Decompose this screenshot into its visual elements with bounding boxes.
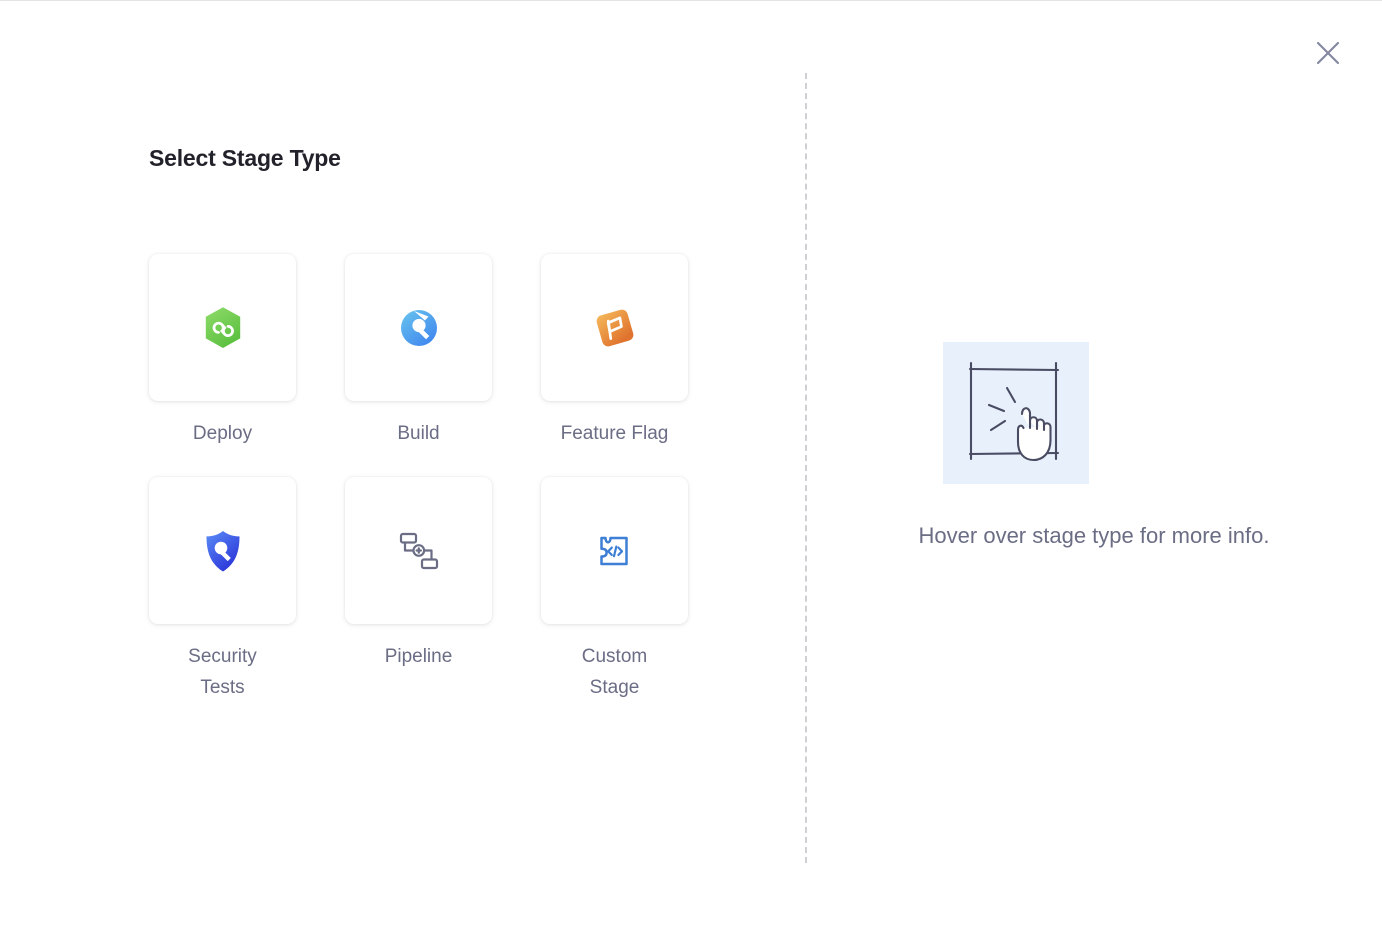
stage-type-label: Pipeline: [385, 641, 453, 672]
stage-type-cell-custom-stage: Custom Stage: [541, 477, 688, 703]
stage-type-cell-feature-flag: Feature Flag: [541, 254, 688, 449]
select-stage-type-modal: Select Stage Type: [0, 0, 1382, 950]
custom-stage-puzzle-code-icon: [592, 528, 638, 574]
build-circle-magnifier-icon: [395, 304, 443, 352]
info-panel: Hover over stage type for more info.: [806, 1, 1382, 950]
stage-type-cell-security-tests: Security Tests: [149, 477, 296, 703]
feature-flag-icon: [591, 304, 639, 352]
hover-hint-text: Hover over stage type for more info.: [830, 517, 1358, 554]
stage-type-custom-stage[interactable]: [541, 477, 688, 624]
deploy-hexagon-infinity-icon: [199, 304, 247, 352]
page-title: Select Stage Type: [149, 145, 341, 172]
stage-type-panel: Select Stage Type: [0, 1, 805, 950]
stage-type-security-tests[interactable]: [149, 477, 296, 624]
stage-type-grid: Deploy: [149, 254, 709, 703]
stage-type-feature-flag[interactable]: [541, 254, 688, 401]
security-shield-magnifier-icon: [201, 527, 245, 575]
stage-type-pipeline[interactable]: [345, 477, 492, 624]
stage-type-label: Security Tests: [168, 641, 278, 703]
stage-type-cell-build: Build: [345, 254, 492, 449]
click-hand-illustration-wrapper: [943, 342, 1089, 484]
stage-type-label: Custom Stage: [560, 641, 670, 703]
stage-type-label: Deploy: [193, 418, 252, 449]
stage-type-cell-deploy: Deploy: [149, 254, 296, 449]
stage-type-deploy[interactable]: [149, 254, 296, 401]
stage-type-label: Build: [397, 418, 439, 449]
stage-type-label: Feature Flag: [561, 418, 669, 449]
click-hand-illustration: [960, 358, 1072, 468]
pipeline-nodes-icon: [394, 526, 444, 576]
stage-type-cell-pipeline: Pipeline: [345, 477, 492, 703]
stage-type-build[interactable]: [345, 254, 492, 401]
